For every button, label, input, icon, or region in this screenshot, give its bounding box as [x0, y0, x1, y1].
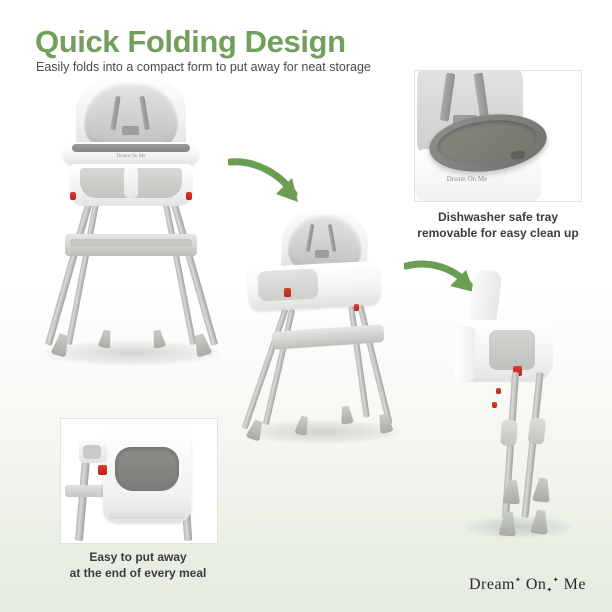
flat-folded-latch-lower-b — [492, 402, 497, 408]
chair-footrest-shadow — [70, 239, 192, 247]
storage-inset-arm-pad — [83, 445, 101, 459]
chair-shadow-3 — [465, 516, 573, 538]
brand-word-dream: Dream — [469, 576, 515, 593]
page-title: Quick Folding Design — [35, 24, 346, 60]
brand-word-me: Me — [564, 576, 586, 593]
storage-inset-release-latch — [98, 465, 107, 475]
brand-star-icon-3: ✦ — [553, 576, 559, 584]
flat-folded-foot-b — [532, 477, 552, 503]
chair-seat-cushion — [84, 83, 178, 149]
high-chair-partially-folded — [236, 208, 406, 446]
flat-folded-cushion-panel — [489, 330, 535, 370]
dishwasher-tray-callout-image: Dream On Me — [414, 70, 582, 202]
inset-tray-brand-logo: Dream On Me — [437, 175, 497, 183]
harness-buckle — [122, 126, 139, 135]
folded-chair-release-latch-2 — [354, 304, 359, 311]
flat-folded-leg-clip-a — [500, 419, 518, 446]
brand-star-icon-2: ✦ — [546, 586, 552, 594]
storage-inset-crossbar — [65, 485, 107, 497]
brand-star-icon-1: ✦ — [515, 576, 521, 584]
dishwasher-tray-caption: Dishwasher safe tray removable for easy … — [412, 210, 584, 242]
flat-folded-tray-edge — [455, 326, 475, 382]
storage-inset-pocket — [115, 447, 179, 491]
high-chair-full-upright: Dream On Me — [36, 78, 226, 370]
high-chair-fully-folded — [455, 268, 580, 540]
brand-word-on: On — [526, 576, 547, 593]
tray-brand-logo: Dream On Me — [98, 154, 164, 159]
brand-logo: Dream✦ On✦✦ Me — [469, 576, 586, 594]
flat-folded-leg-clip-b — [528, 417, 547, 445]
folded-chair-release-latch — [284, 288, 291, 297]
page-subtitle: Easily folds into a compact form to put … — [36, 60, 371, 74]
storage-inset-lower-brace — [109, 507, 185, 519]
chair-release-latch-right — [186, 192, 192, 200]
chair-crotch-post — [124, 166, 138, 198]
chair-release-latch-left — [70, 192, 76, 200]
product-infographic: Quick Folding Design Easily folds into a… — [0, 0, 612, 612]
easy-storage-caption: Easy to put away at the end of every mea… — [52, 550, 224, 582]
easy-storage-callout-image — [60, 418, 218, 544]
flat-folded-latch-lower-a — [496, 388, 501, 394]
folded-harness-buckle — [315, 250, 329, 258]
chair-tray-surface — [72, 144, 190, 152]
